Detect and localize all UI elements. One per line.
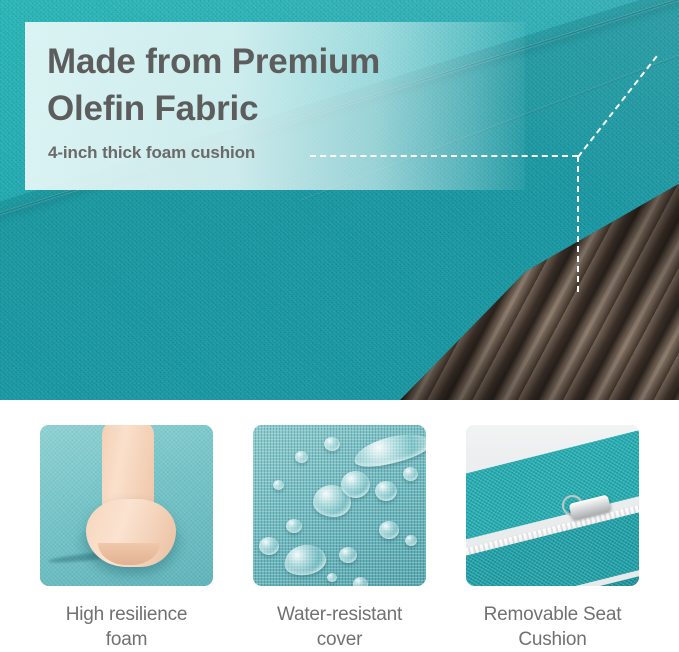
hero-headline-line-1: Made from Premium	[47, 42, 380, 81]
feature-caption-3: Removable Seat Cushion	[484, 602, 622, 652]
hero-headline: Made from Premium Olefin Fabric	[47, 38, 517, 132]
measurement-horizontal-dashed-line	[310, 155, 578, 157]
feature-image-water-droplets	[253, 425, 426, 586]
feature-caption-2-line-2: cover	[317, 629, 362, 650]
feature-highlights-strip: High resilience foam Water-resis	[0, 400, 679, 652]
hero-headline-line-2: Olefin Fabric	[47, 89, 258, 128]
feature-card-removable-seat-cushion: Removable Seat Cushion	[466, 425, 639, 652]
feature-caption-1-line-1: High resilience	[66, 604, 188, 625]
water-droplet	[405, 535, 417, 546]
water-droplet	[286, 519, 302, 533]
water-droplet	[353, 577, 368, 586]
hero-product-image: Made from Premium Olefin Fabric 4-inch t…	[0, 0, 679, 400]
water-droplet	[339, 547, 357, 563]
water-droplet	[313, 485, 351, 517]
hero-subheadline: 4-inch thick foam cushion	[48, 143, 255, 163]
feature-caption-3-line-1: Removable Seat	[484, 604, 622, 625]
feature-caption-2-line-1: Water-resistant	[277, 604, 402, 625]
water-droplet	[375, 481, 397, 501]
measurement-vertical-dashed-line	[577, 156, 579, 292]
feature-image-hand-pressing-foam	[40, 425, 213, 586]
water-droplet	[324, 437, 340, 451]
water-droplet	[379, 521, 399, 539]
feature-caption-3-line-2: Cushion	[518, 629, 586, 650]
water-droplet	[273, 480, 284, 490]
feature-card-high-resilience-foam: High resilience foam	[40, 425, 213, 652]
water-droplet	[403, 467, 418, 481]
water-droplet	[259, 537, 279, 555]
feature-caption-2: Water-resistant cover	[277, 602, 402, 652]
water-droplet	[327, 573, 337, 582]
water-droplet	[295, 451, 308, 463]
feature-image-zipper	[466, 425, 639, 586]
feature-card-water-resistant-cover: Water-resistant cover	[253, 425, 426, 652]
feature-caption-1-line-2: foam	[106, 629, 147, 650]
feature-caption-1: High resilience foam	[66, 602, 188, 652]
